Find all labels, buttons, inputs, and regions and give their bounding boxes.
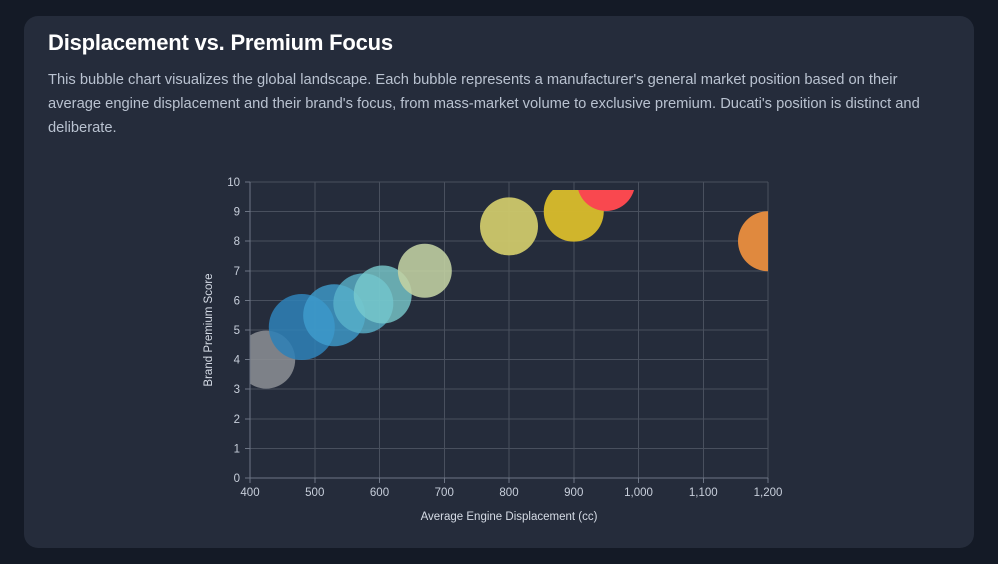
y-tick-label: 4 — [234, 355, 241, 367]
x-tick-label: 900 — [564, 487, 583, 499]
y-tick-label: 1 — [234, 443, 240, 455]
x-axis-title: Average Engine Displacement (cc) — [421, 511, 598, 523]
x-tick-label: 500 — [305, 487, 324, 499]
y-tick-label: 8 — [234, 236, 240, 248]
y-tick-label: 0 — [234, 473, 240, 485]
x-tick-label: 400 — [240, 487, 259, 499]
x-tick-label: 600 — [370, 487, 389, 499]
y-tick-label: 7 — [234, 266, 240, 278]
bubble-chart: 4005006007008009001,0001,1001,2000123456… — [24, 16, 974, 548]
x-tick-label: 1,200 — [754, 487, 783, 499]
x-tick-label: 800 — [499, 487, 518, 499]
bubble-point[interactable] — [738, 211, 798, 271]
bubble-point[interactable] — [480, 197, 538, 255]
x-tick-label: 1,000 — [624, 487, 653, 499]
y-tick-label: 5 — [234, 325, 240, 337]
y-tick-label: 10 — [227, 177, 240, 189]
y-tick-label: 9 — [234, 207, 240, 219]
y-axis-title: Brand Premium Score — [203, 273, 215, 386]
y-tick-label: 2 — [234, 414, 240, 426]
bubble-point[interactable] — [398, 244, 452, 298]
chart-card: Displacement vs. Premium Focus This bubb… — [24, 16, 974, 548]
x-tick-label: 1,100 — [689, 487, 718, 499]
x-tick-label: 700 — [435, 487, 454, 499]
y-tick-label: 3 — [234, 384, 240, 396]
chart-svg: 4005006007008009001,0001,1001,2000123456… — [24, 16, 974, 548]
y-tick-label: 6 — [234, 295, 240, 307]
